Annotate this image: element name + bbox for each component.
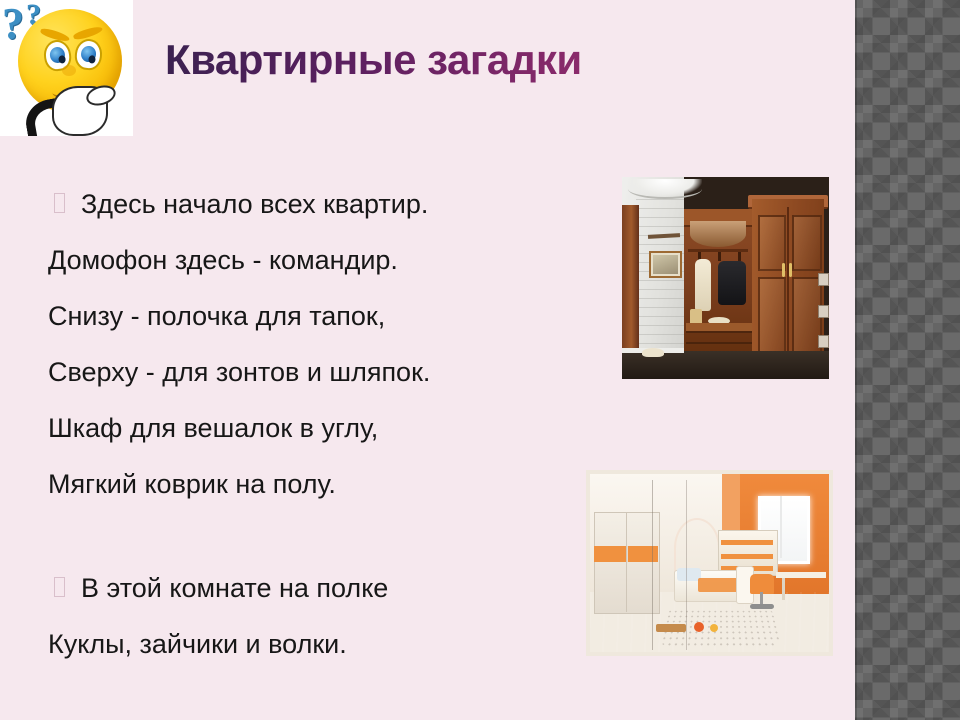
riddle-text: Шкаф для вешалок в углу,: [48, 400, 378, 456]
riddle-text: Куклы, зайчики и волки.: [48, 616, 347, 672]
shelf-row: [721, 540, 773, 545]
coat-hook: [718, 252, 721, 261]
bedroom-wardrobe: [594, 512, 660, 614]
page-title: Квартирные загадки: [165, 36, 582, 84]
hanging-jacket-dark: [718, 261, 746, 305]
nose: [62, 65, 76, 76]
riddle-line: Шкаф для вешалок в углу,: [48, 400, 593, 456]
hanging-coat-light: [695, 259, 711, 311]
eye-right: [73, 38, 103, 72]
presentation-slide: ? ? Квартирные загадки: [0, 0, 960, 720]
wall-socket: [818, 305, 829, 318]
riddle-text: В этой комнате на полке: [81, 560, 388, 616]
bedroom-scene: [590, 474, 829, 652]
riddle-block-2: В этой комнате на полке Куклы, зайчики и…: [48, 560, 593, 672]
wardrobe-handle: [782, 263, 785, 277]
riddle-block-1: Здесь начало всех квартир. Домофон здесь…: [48, 176, 593, 512]
window-mullion: [780, 496, 782, 558]
wardrobe-handle: [789, 263, 792, 277]
riddle-text: Домофон здесь - командир.: [48, 232, 398, 288]
wall-socket: [818, 335, 829, 348]
riddle-text: Сверху - для зонтов и шляпок.: [48, 344, 430, 400]
riddle-line: Мягкий коврик на полу.: [48, 456, 593, 512]
iris-left: [49, 46, 66, 64]
riddle-text: Мягкий коврик на полу.: [48, 456, 336, 512]
riddle-text: Снизу - полочка для тапок,: [48, 288, 385, 344]
pupil-right: [88, 55, 96, 64]
glass-partition: [652, 480, 653, 650]
wardrobe-arch-shelf: [690, 221, 746, 247]
bullet-box-icon: [54, 193, 65, 213]
wall-socket: [818, 273, 829, 286]
thinking-smiley-clipart: ? ?: [0, 0, 133, 136]
riddle-line: Домофон здесь - командир.: [48, 232, 593, 288]
slippers: [642, 348, 664, 357]
hallway-door: [622, 205, 639, 353]
bullet-box-icon: [54, 577, 65, 597]
riddle-line: Сверху - для зонтов и шляпок.: [48, 344, 593, 400]
desk-chair: [750, 574, 774, 594]
argyle-pattern-band: [855, 0, 960, 720]
swing-seat: [656, 624, 686, 632]
wardrobe-door-split: [787, 207, 789, 365]
coat-hook: [738, 252, 741, 261]
glass-partition: [686, 480, 687, 650]
riddle-line: Снизу - полочка для тапок,: [48, 288, 593, 344]
toy-ball: [710, 624, 718, 632]
iris-right: [80, 45, 97, 62]
riddle-text: Здесь начало всех квартир.: [81, 176, 428, 232]
riddle-line: В этой комнате на полке: [48, 560, 593, 616]
argyle-band-edge: [855, 0, 857, 720]
pupil-left: [58, 55, 66, 64]
toy-ball: [694, 622, 704, 632]
question-mark-large-icon: ?: [2, 2, 24, 46]
ceiling-lamp: [628, 179, 702, 199]
riddles-column: Здесь начало всех квартир. Домофон здесь…: [48, 176, 593, 672]
wall-picture-frame: [649, 251, 682, 278]
hallway-wardrobe-photo: [622, 177, 829, 379]
kids-bedroom-photo: [586, 470, 833, 656]
wardrobe-panel: [758, 277, 786, 361]
low-shelf: [686, 323, 752, 331]
wall-picture-art: [653, 255, 678, 274]
wardrobe-panel: [792, 277, 822, 361]
wardrobe-panel: [792, 215, 822, 271]
riddle-line: Куклы, зайчики и волки.: [48, 616, 593, 672]
desk-leg: [782, 578, 785, 600]
wardrobe-door-split: [626, 512, 627, 612]
riddle-line: Здесь начало всех квартир.: [48, 176, 593, 232]
shelf-row: [721, 554, 773, 559]
